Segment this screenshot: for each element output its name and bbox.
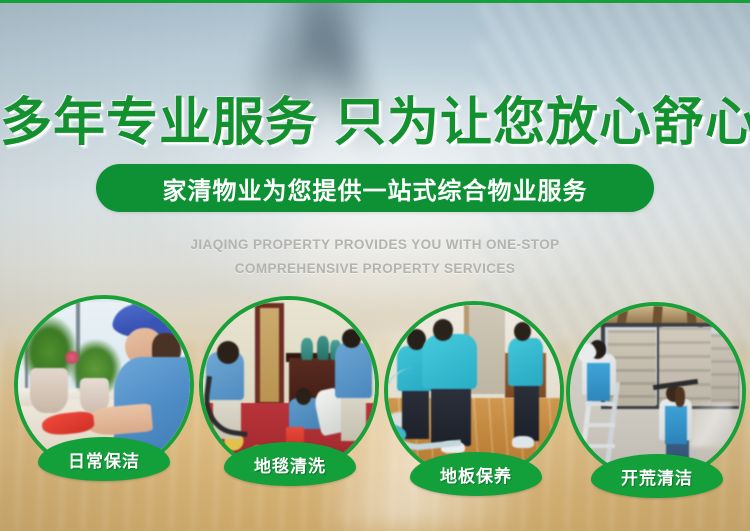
- service-circle-floor-maintenance[interactable]: 地板保养: [384, 301, 564, 481]
- service-circle-row: 日常保洁 地毯清洗: [0, 0, 750, 531]
- service-circle-carpet-cleaning[interactable]: 地毯清洗: [199, 296, 379, 476]
- service-label-text: 地板保养: [440, 462, 512, 487]
- promo-banner: 多年专业服务只为让您放心舒心 家清物业为您提供一站式综合物业服务 JIAQING…: [0, 0, 750, 531]
- service-label-badge: 开荒清洁: [591, 454, 723, 498]
- service-label-text: 日常保洁: [68, 447, 140, 472]
- photo-post-construction-cleaning: [570, 306, 742, 478]
- service-label-text: 开荒清洁: [621, 464, 693, 489]
- service-circle-daily-cleaning[interactable]: 日常保洁: [14, 295, 194, 475]
- service-label-text: 地毯清洗: [254, 452, 326, 477]
- service-label-badge: 地毯清洗: [224, 442, 356, 486]
- service-label-badge: 地板保养: [410, 452, 542, 496]
- service-label-badge: 日常保洁: [38, 437, 170, 481]
- service-circle-post-construction-cleaning[interactable]: 开荒清洁: [566, 302, 746, 482]
